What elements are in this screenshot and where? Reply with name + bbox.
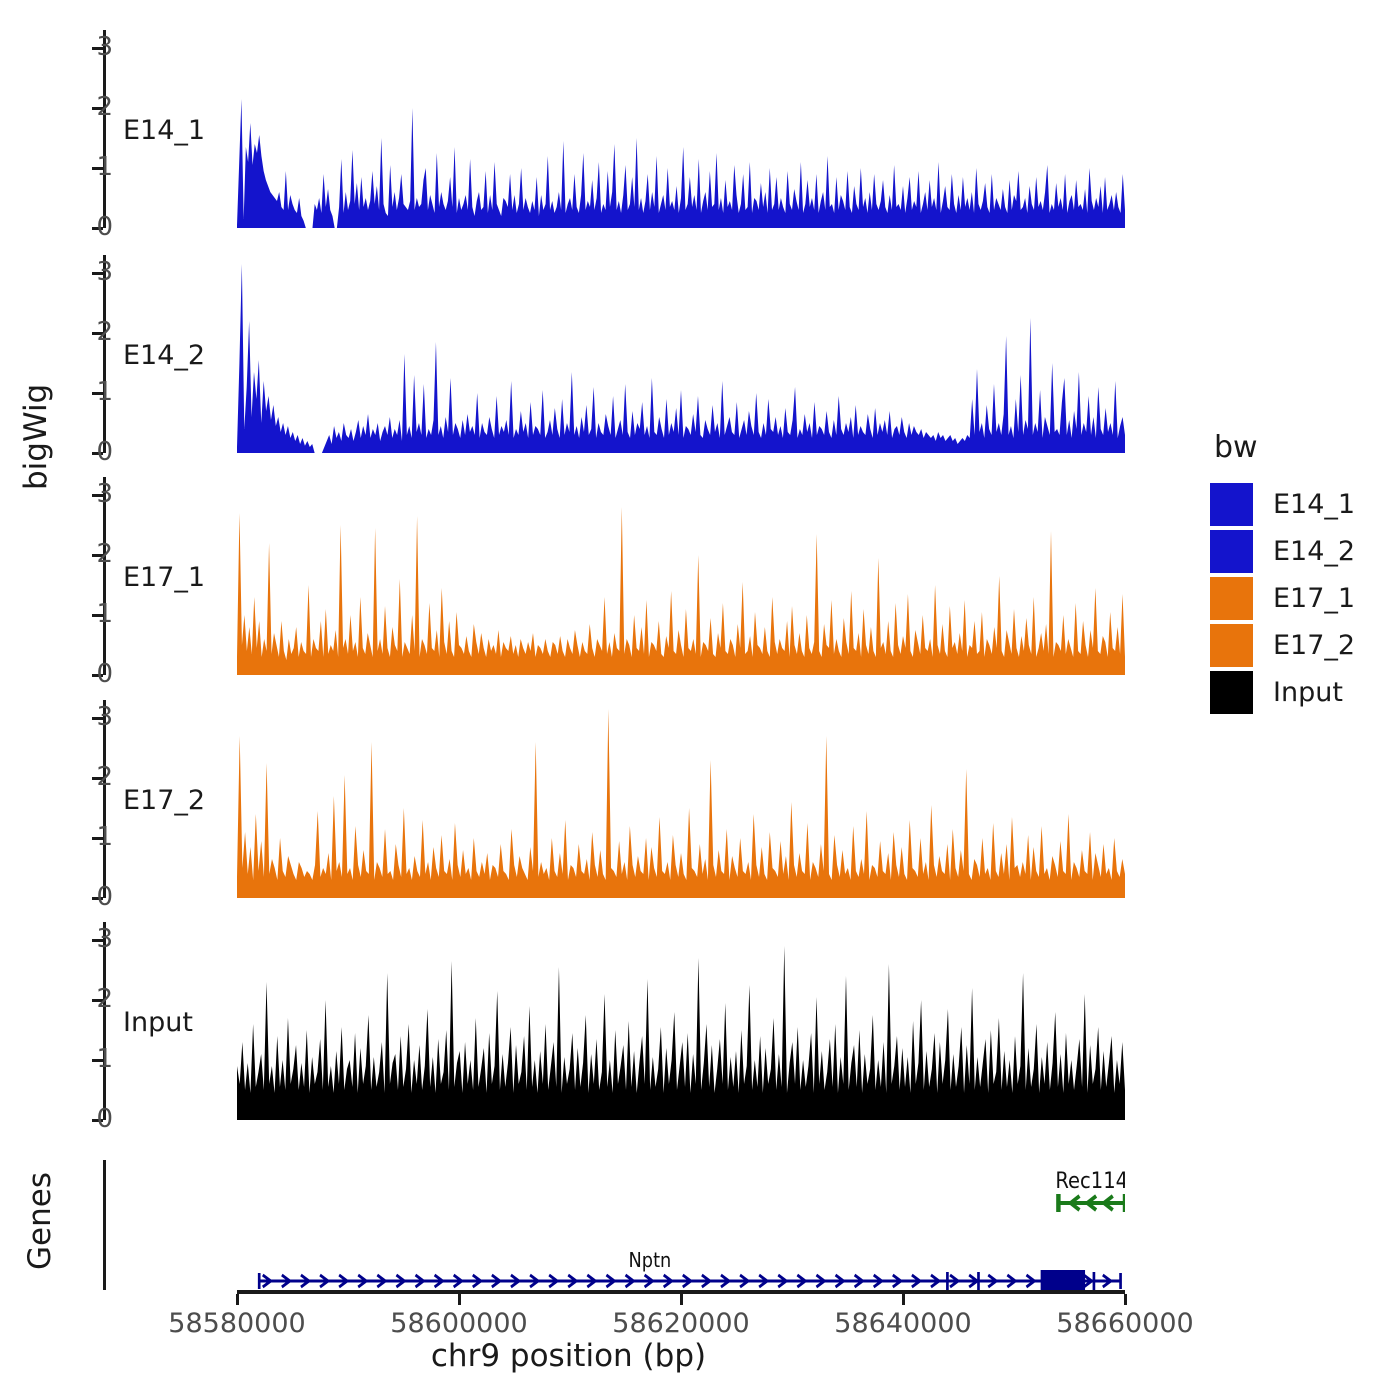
y-tick-label: 0 [53, 1106, 113, 1132]
legend-label: Input [1273, 677, 1343, 708]
svg-text:Nptn: Nptn [629, 1249, 672, 1272]
svg-text:Rec114: Rec114 [1055, 1168, 1125, 1193]
legend-label: E17_1 [1273, 583, 1355, 614]
y-tick-label: 1 [53, 601, 113, 627]
gene-track-spine [103, 1160, 106, 1290]
bigwig-panel-input: 0123Input [103, 922, 1137, 1120]
legend-label: E14_1 [1273, 489, 1355, 520]
y-tick-label: 3 [53, 704, 113, 730]
signal-track-e14_2 [237, 255, 1125, 453]
legend-item-input[interactable]: Input [1210, 669, 1390, 716]
panel-label-e14_1: E14_1 [123, 115, 205, 146]
legend-item-e14_1[interactable]: E14_1 [1210, 481, 1390, 528]
y-tick-label: 0 [53, 884, 113, 910]
x-tick [458, 1294, 461, 1305]
panel-label-e17_2: E17_2 [123, 785, 205, 816]
y-tick-label: 0 [53, 661, 113, 687]
y-tick-label: 1 [53, 379, 113, 405]
y-tick-label: 1 [53, 824, 113, 850]
x-axis: 5858000058600000586200005864000058660000 [237, 1290, 1125, 1291]
legend-swatch-e14_1 [1210, 483, 1253, 526]
legend-swatch-e17_2 [1210, 624, 1253, 667]
bigwig-panel-e17_2: 0123E17_2 [103, 700, 1137, 898]
legend-item-e14_2[interactable]: E14_2 [1210, 528, 1390, 575]
y-tick-label: 3 [53, 259, 113, 285]
panel-label-input: Input [123, 1007, 193, 1038]
legend-title: bw [1210, 430, 1390, 465]
legend-item-e17_1[interactable]: E17_1 [1210, 575, 1390, 622]
legend-swatch-input [1210, 671, 1253, 714]
y-tick-label: 2 [53, 541, 113, 567]
y-tick-label: 3 [53, 926, 113, 952]
bigwig-panel-e14_2: 0123E14_2 [103, 255, 1137, 453]
legend-label: E17_2 [1273, 630, 1355, 661]
y-axis-title-bigwig: bigWig [18, 384, 54, 490]
x-tick [1124, 1294, 1127, 1305]
gene-track-panel: NptnRec114 [103, 1160, 1137, 1290]
x-axis-title: chr9 position (bp) [0, 1338, 1137, 1374]
y-tick-label: 2 [53, 319, 113, 345]
panel-label-e14_2: E14_2 [123, 340, 205, 371]
signal-track-input [237, 922, 1125, 1120]
signal-track-e17_2 [237, 700, 1125, 898]
y-tick-label: 2 [53, 764, 113, 790]
y-tick-label: 0 [53, 214, 113, 240]
y-tick-label: 0 [53, 439, 113, 465]
bigwig-panel-e14_1: 0123E14_1 [103, 30, 1137, 228]
legend-swatch-e17_1 [1210, 577, 1253, 620]
legend-item-e17_2[interactable]: E17_2 [1210, 622, 1390, 669]
legend-label: E14_2 [1273, 536, 1355, 567]
legend-items: E14_1E14_2E17_1E17_2Input [1210, 481, 1390, 716]
panel-label-e17_1: E17_1 [123, 562, 205, 593]
y-tick-label: 1 [53, 154, 113, 180]
y-tick-label: 2 [53, 986, 113, 1012]
x-tick [680, 1294, 683, 1305]
y-tick-label: 1 [53, 1046, 113, 1072]
x-tick-label: 58620000 [612, 1308, 749, 1339]
y-tick-label: 3 [53, 34, 113, 60]
x-tick [902, 1294, 905, 1305]
gene-track-area: NptnRec114 [237, 1160, 1125, 1290]
signal-track-e14_1 [237, 30, 1125, 228]
legend: bw E14_1E14_2E17_1E17_2Input [1210, 430, 1390, 716]
x-tick-label: 58600000 [390, 1308, 527, 1339]
x-tick-label: 58580000 [168, 1308, 305, 1339]
x-tick-label: 58640000 [834, 1308, 971, 1339]
x-tick [236, 1294, 239, 1305]
y-axis-title-genes: Genes [22, 1172, 58, 1270]
y-tick-label: 2 [53, 94, 113, 120]
y-tick-label: 3 [53, 481, 113, 507]
legend-swatch-e14_2 [1210, 530, 1253, 573]
signal-track-e17_1 [237, 477, 1125, 675]
x-tick-label: 58660000 [1056, 1308, 1193, 1339]
bigwig-panel-e17_1: 0123E17_1 [103, 477, 1137, 675]
